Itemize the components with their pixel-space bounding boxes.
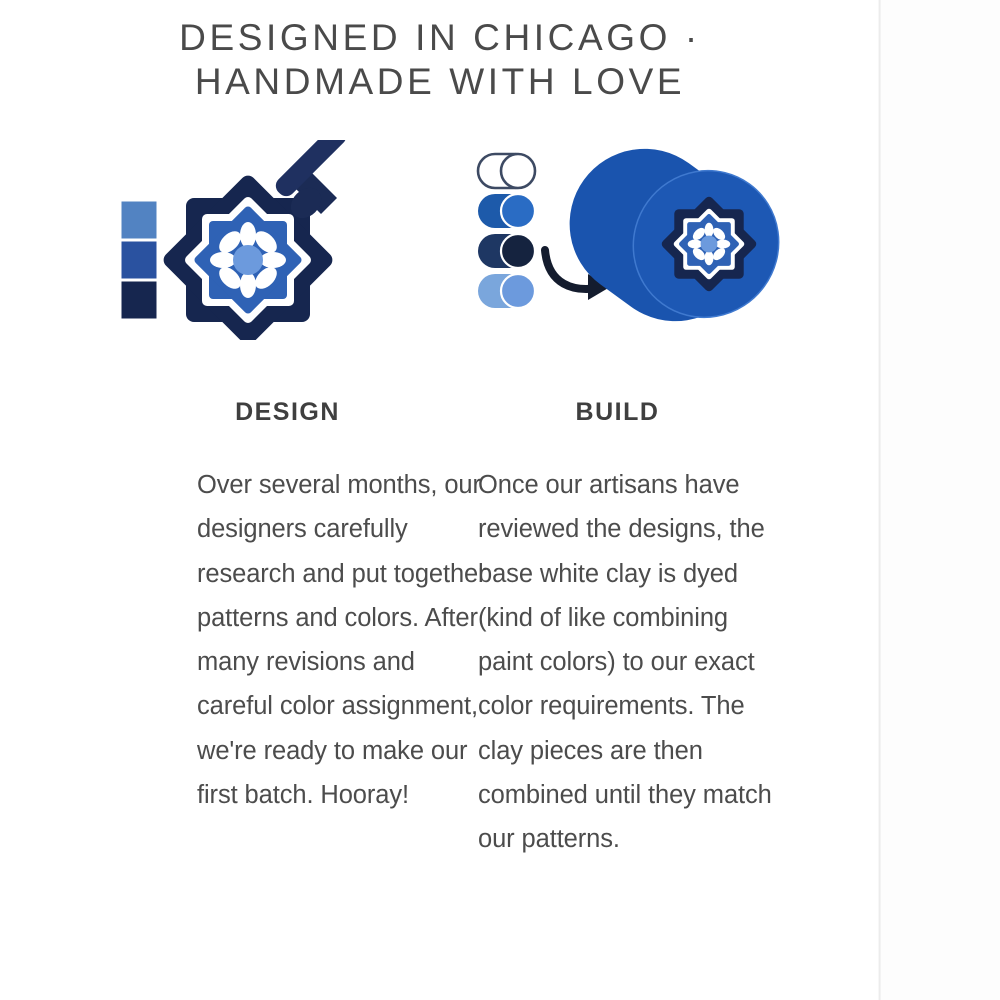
feature-column-build: BUILD Once our artisans have reviewed th… (470, 140, 835, 862)
outer-gutter (881, 0, 1000, 1000)
build-icon-slot (470, 140, 835, 340)
feature-column-design: DESIGN Over several months, our designer… (105, 140, 470, 862)
column-body-build: Once our artisans have reviewed the desi… (478, 463, 778, 862)
clay-piece-navy (478, 234, 535, 268)
feature-columns: DESIGN Over several months, our designer… (0, 140, 880, 862)
clay-piece-blue (478, 194, 535, 228)
build-clay-roll-icon (470, 140, 835, 340)
column-title-build: BUILD (400, 398, 835, 427)
page-title: DESIGNED IN CHICAGO · HANDMADE WITH LOVE (0, 16, 880, 104)
page-root: DESIGNED IN CHICAGO · HANDMADE WITH LOVE (0, 0, 1000, 1000)
scrollable-content-surface[interactable]: DESIGNED IN CHICAGO · HANDMADE WITH LOVE (0, 0, 880, 1000)
design-icon-slot (105, 140, 470, 340)
vertical-scrollbar-track[interactable] (866, 0, 882, 1000)
design-palette-brush-icon (105, 140, 470, 340)
column-body-design: Over several months, our designers caref… (197, 463, 497, 817)
clay-piece-white (478, 154, 535, 188)
color-swatch-stack (120, 200, 158, 320)
clay-piece-light-blue (478, 274, 535, 308)
